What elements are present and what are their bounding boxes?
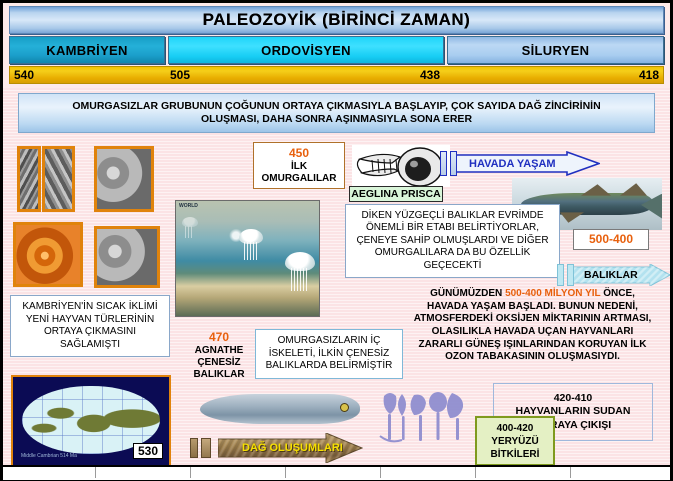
spiny-fish-line-5: GEÇECEKTİ — [424, 260, 482, 273]
period-kambriyen-label: KAMBRİYEN — [46, 43, 127, 58]
agnatha-year: 470 — [183, 330, 255, 345]
invertebrate-skeleton-line-3: BALIKLARDA BELİRMİŞTİR — [266, 360, 393, 373]
ozone-line-5: ZARARLI GÜNEŞ IŞINLARINDAN KORUYAN İLK — [395, 339, 670, 352]
land-plants-line-2: BİTKİLERİ — [491, 448, 540, 461]
cambrian-climate-line-2: YENİ HAYVAN TÜRLERİNİN — [26, 314, 154, 327]
fish-dorsal-fin — [581, 184, 611, 195]
scene-watermark: WORLD — [179, 203, 198, 209]
cambrian-climate-line-3: ORTAYA ÇIKMASINI — [44, 326, 136, 339]
timeline-mark-418: 418 — [639, 68, 659, 82]
timeline-mark-505: 505 — [170, 68, 190, 82]
fossil-photo-1 — [17, 146, 41, 212]
aeglina-prisca-label: AEGLINA PRISCA — [349, 186, 443, 202]
plant-fossil-icon — [378, 388, 468, 450]
jawless-fish-eye — [340, 403, 349, 412]
spiny-fish-box: DİKEN YÜZGEÇLİ BALIKLAR EVRİMDE ÖNEMLİ B… — [345, 204, 560, 278]
jawless-fish-icon — [200, 385, 360, 433]
fish-dorsal-fin-2 — [620, 183, 647, 195]
bottom-tick-6 — [570, 467, 571, 478]
first-vertebrates-box: 450 İLK OMURGALILAR — [253, 142, 345, 189]
fossil-photo-3 — [94, 146, 154, 212]
world-map-source-note: Middle Cambrian 514 Ma — [21, 453, 77, 459]
bottom-tick-1 — [95, 467, 96, 478]
era-title-text: PALEOZOYİK (BİRİNCİ ZAMAN) — [203, 10, 471, 30]
aeglina-prisca-text: AEGLINA PRISCA — [351, 188, 440, 200]
plant-fossil-svg — [378, 388, 468, 450]
mountain-formation-arrow[interactable]: DAĞ OLUŞUMLARI — [218, 433, 363, 463]
intro-line-2: OLUŞMASI, DAHA SONRA AŞINMASIYLA SONA ER… — [201, 113, 472, 126]
jellyfish-3 — [182, 217, 198, 227]
mountain-arrow-ticks — [190, 438, 211, 458]
first-vertebrates-line-2: OMURGALILAR — [262, 173, 337, 186]
fossil-photo-5 — [94, 226, 160, 288]
timeline-mark-540: 540 — [14, 68, 34, 82]
invertebrate-skeleton-line-2: İSKELETİ, İLKİN ÇENESİZ — [269, 348, 390, 361]
ozone-line-1-c: ÖNCE, — [600, 288, 634, 299]
timeline-mark-438: 438 — [420, 68, 440, 82]
land-plants-box: 400-420 YERYÜZÜ BİTKİLERİ — [475, 416, 555, 466]
cambrian-climate-line-1: KAMBRİYEN'İN SICAK İKLİMİ — [22, 301, 157, 314]
period-ordovisyen-label: ORDOVİSYEN — [261, 43, 351, 58]
agnatha-line-2: ÇENESİZ — [183, 357, 255, 369]
ozone-line-2: HAVADA YAŞAM BAŞLADI. BUNUN NEDENİ, — [395, 301, 670, 314]
ozone-line-4: OLASILIKLA HAVADA UÇAN HAYVANLARI — [395, 326, 670, 339]
agnatha-line-1: AGNATHE — [183, 345, 255, 357]
jellyfish-1 — [239, 229, 263, 244]
fossil-photo-2 — [42, 146, 75, 212]
invertebrate-skeleton-line-1: OMURGASIZLARIN İÇ — [278, 335, 381, 348]
paleo-world-map: Middle Cambrian 514 Ma 530 — [11, 375, 171, 467]
mountain-arrow-label: DAĞ OLUŞUMLARI — [218, 442, 343, 454]
bottom-tick-5 — [475, 467, 476, 478]
fossil-photo-4 — [13, 222, 83, 287]
intro-banner: OMURGASIZLAR GRUBUNUN ÇOĞUNUN ORTAYA ÇIK… — [18, 93, 655, 133]
ozone-line-1-a: GÜNÜMÜZDEN — [430, 288, 505, 299]
land-plants-line-1: YERYÜZÜ — [491, 435, 538, 448]
agnatha-callout: 470 AGNATHE ÇENESİZ BALIKLAR — [183, 330, 255, 390]
land-plants-year: 400-420 — [497, 422, 534, 435]
period-bar: KAMBRİYEN ORDOVİSYEN SİLURYEN — [9, 36, 664, 64]
first-vertebrates-line-1: İLK — [291, 161, 307, 174]
jawless-fish-body — [200, 394, 360, 425]
cambrian-climate-box: KAMBRİYEN'İN SICAK İKLİMİ YENİ HAYVAN TÜ… — [10, 295, 170, 357]
period-siluryen-label: SİLURYEN — [522, 43, 590, 58]
trilobite-fossil-icon — [352, 145, 450, 187]
bottom-tick-3 — [285, 467, 286, 478]
fish-range-year: 500-400 — [589, 232, 633, 247]
world-map-caption: 530 — [133, 443, 163, 459]
underwater-scene-icon: WORLD — [175, 200, 320, 317]
bottom-tick-4 — [380, 467, 381, 478]
land-animals-year: 420-410 — [554, 392, 593, 405]
spiny-fish-line-3: ÇENEYE SAHİP OLMUŞLARDI VE DİĞER — [356, 235, 548, 248]
ozone-paragraph: GÜNÜMÜZDEN 500-400 MİLYON YIL ÖNCE, HAVA… — [395, 288, 670, 374]
agnatha-line-3: BALIKLAR — [183, 369, 255, 381]
spiny-fish-line-1: DİKEN YÜZGEÇLİ BALIKLAR EVRİMDE — [361, 210, 543, 223]
air-life-arrow-label: HAVADA YAŞAM — [455, 158, 556, 170]
spiny-fish-line-2: ÖNEMLİ BİR ETABI BELİRTİYORLAR, — [366, 222, 539, 235]
era-title-bar: PALEOZOYİK (BİRİNCİ ZAMAN) — [9, 6, 664, 34]
period-kambriyen[interactable]: KAMBRİYEN — [9, 36, 165, 64]
period-siluryen[interactable]: SİLURYEN — [447, 36, 664, 64]
intro-line-1: OMURGASIZLAR GRUBUNUN ÇOĞUNUN ORTAYA ÇIK… — [72, 100, 600, 113]
air-life-arrow[interactable]: HAVADA YAŞAM — [455, 151, 600, 176]
period-ordovisyen[interactable]: ORDOVİSYEN — [168, 36, 444, 64]
ozone-line-1-highlight: 500-400 MİLYON YIL — [505, 288, 600, 299]
fish-range-box: 500-400 — [573, 229, 649, 250]
invertebrate-skeleton-box: OMURGASIZLARIN İÇ İSKELETİ, İLKİN ÇENESİ… — [255, 329, 403, 379]
ozone-line-3: ATMOSFERDEKİ OKSİJEN MİKTARININ ARTMASI, — [395, 313, 670, 326]
jellyfish-2 — [285, 252, 315, 271]
spiny-fish-line-4: OMURGALILARA DA BU ÖZELLİK — [375, 247, 531, 260]
cambrian-climate-line-4: SAĞLAMIŞTI — [60, 339, 120, 352]
trilobite-svg — [352, 145, 450, 187]
fish-arrow-label: BALIKLAR — [570, 269, 638, 281]
fish-arrow[interactable]: BALIKLAR — [570, 264, 670, 286]
first-vertebrates-year: 450 — [289, 146, 309, 161]
ozone-line-1: GÜNÜMÜZDEN 500-400 MİLYON YIL ÖNCE, — [395, 288, 670, 301]
ozone-line-6: OZON TABAKASININ OLUŞMASIYDI. — [395, 351, 670, 364]
bottom-tick-2 — [190, 467, 191, 478]
slide-root: PALEOZOYİK (BİRİNCİ ZAMAN) KAMBRİYEN ORD… — [0, 0, 673, 481]
fish-pectoral-fin — [560, 212, 584, 222]
timeline-bar: 540 505 438 418 — [9, 66, 664, 84]
